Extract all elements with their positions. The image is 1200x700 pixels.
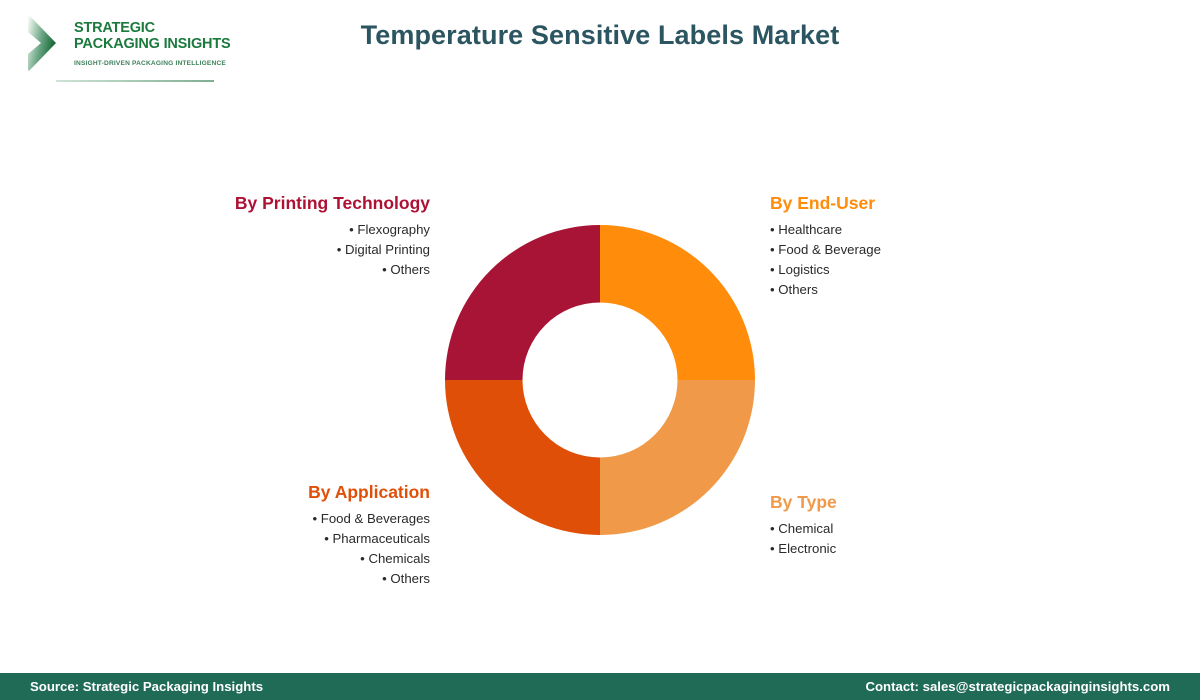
list-item: Others: [130, 569, 430, 589]
list-item: Logistics: [770, 260, 1070, 280]
category-heading-type: By Type: [770, 492, 1070, 513]
category-heading-application: By Application: [130, 482, 430, 503]
page-title: Temperature Sensitive Labels Market: [0, 20, 1200, 51]
category-block-end-user: By End-User Healthcare Food & Beverage L…: [770, 193, 1070, 300]
logo-divider: [56, 80, 214, 82]
footer-bar: Source: Strategic Packaging Insights Con…: [0, 673, 1200, 700]
donut-segment-by-end-user[interactable]: [600, 225, 755, 380]
list-item: Healthcare: [770, 220, 1070, 240]
footer-source: Source: Strategic Packaging Insights: [30, 679, 263, 694]
category-block-application: By Application Food & Beverages Pharmace…: [130, 482, 430, 589]
category-list-application: Food & Beverages Pharmaceuticals Chemica…: [130, 509, 430, 589]
list-item: Chemical: [770, 519, 1070, 539]
donut-segment-by-application[interactable]: [445, 380, 600, 535]
category-list-printing-technology: Flexography Digital Printing Others: [130, 220, 430, 280]
list-item: Pharmaceuticals: [130, 529, 430, 549]
list-item: Flexography: [130, 220, 430, 240]
category-list-type: Chemical Electronic: [770, 519, 1070, 559]
footer-contact[interactable]: Contact: sales@strategicpackaginginsight…: [865, 679, 1170, 694]
list-item: Food & Beverage: [770, 240, 1070, 260]
infographic-page: STRATEGIC PACKAGING INSIGHTS INSIGHT-DRI…: [0, 0, 1200, 700]
list-item: Others: [770, 280, 1070, 300]
donut-chart: [445, 225, 755, 535]
logo-tagline: INSIGHT-DRIVEN PACKAGING INTELLIGENCE: [74, 60, 226, 67]
list-item: Chemicals: [130, 549, 430, 569]
list-item: Electronic: [770, 539, 1070, 559]
list-item: Digital Printing: [130, 240, 430, 260]
category-heading-end-user: By End-User: [770, 193, 1070, 214]
list-item: Food & Beverages: [130, 509, 430, 529]
donut-segment-by-printing-technology[interactable]: [445, 225, 600, 380]
category-list-end-user: Healthcare Food & Beverage Logistics Oth…: [770, 220, 1070, 300]
category-heading-printing-technology: By Printing Technology: [130, 193, 430, 214]
donut-segment-by-type[interactable]: [600, 380, 755, 535]
category-block-printing-technology: By Printing Technology Flexography Digit…: [130, 193, 430, 280]
category-block-type: By Type Chemical Electronic: [770, 492, 1070, 559]
list-item: Others: [130, 260, 430, 280]
donut-chart-svg: [445, 225, 755, 535]
